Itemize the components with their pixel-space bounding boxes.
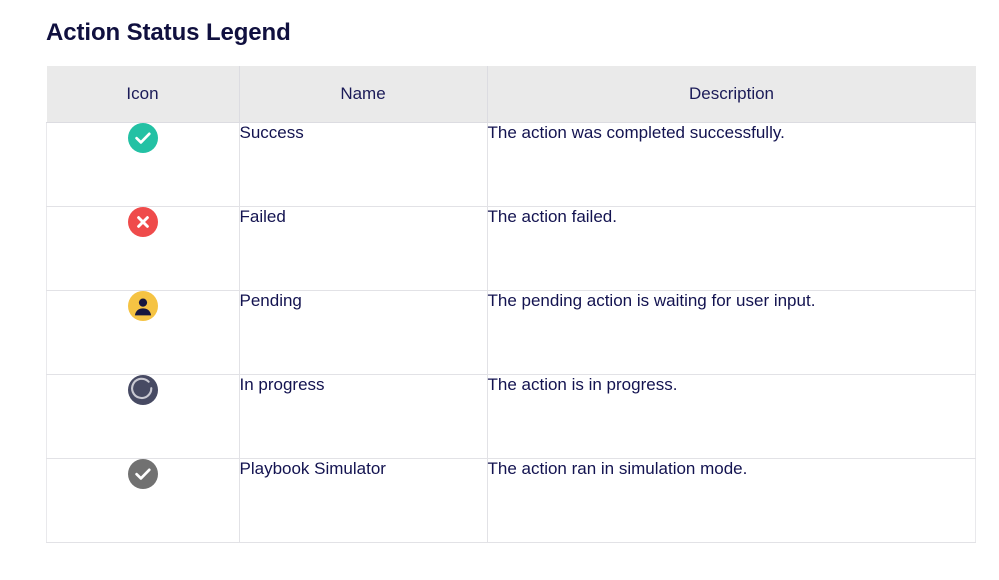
- action-status-legend-page: Action Status Legend Icon Name Descripti…: [0, 0, 999, 580]
- cell-name: Failed: [239, 207, 487, 291]
- table-header: Icon Name Description: [47, 66, 976, 123]
- success-check-circle-icon: [128, 123, 158, 153]
- cell-description: The pending action is waiting for user i…: [487, 291, 976, 375]
- cell-name: In progress: [239, 375, 487, 459]
- table-header-row: Icon Name Description: [47, 66, 976, 123]
- table-row: In progress The action is in progress.: [47, 375, 976, 459]
- failed-x-circle-icon: [128, 207, 158, 237]
- cell-icon: [47, 459, 240, 543]
- cell-description: The action ran in simulation mode.: [487, 459, 976, 543]
- cell-name: Playbook Simulator: [239, 459, 487, 543]
- cell-icon: [47, 123, 240, 207]
- page-title: Action Status Legend: [46, 18, 291, 48]
- pending-user-circle-icon: [128, 291, 158, 321]
- cell-icon: [47, 375, 240, 459]
- table-row: Playbook Simulator The action ran in sim…: [47, 459, 976, 543]
- cell-icon: [47, 291, 240, 375]
- cell-name: Success: [239, 123, 487, 207]
- action-status-legend-table: Icon Name Description Success The action…: [46, 66, 976, 543]
- cell-name: Pending: [239, 291, 487, 375]
- cell-description: The action is in progress.: [487, 375, 976, 459]
- column-header-name: Name: [239, 66, 487, 123]
- column-header-description: Description: [487, 66, 976, 123]
- in-progress-spinner-circle-icon: [128, 375, 158, 405]
- cell-description: The action failed.: [487, 207, 976, 291]
- cell-description: The action was completed successfully.: [487, 123, 976, 207]
- table-row: Pending The pending action is waiting fo…: [47, 291, 976, 375]
- column-header-icon: Icon: [47, 66, 240, 123]
- table-row: Failed The action failed.: [47, 207, 976, 291]
- cell-icon: [47, 207, 240, 291]
- table-row: Success The action was completed success…: [47, 123, 976, 207]
- playbook-simulator-check-circle-icon: [128, 459, 158, 489]
- table-body: Success The action was completed success…: [47, 123, 976, 543]
